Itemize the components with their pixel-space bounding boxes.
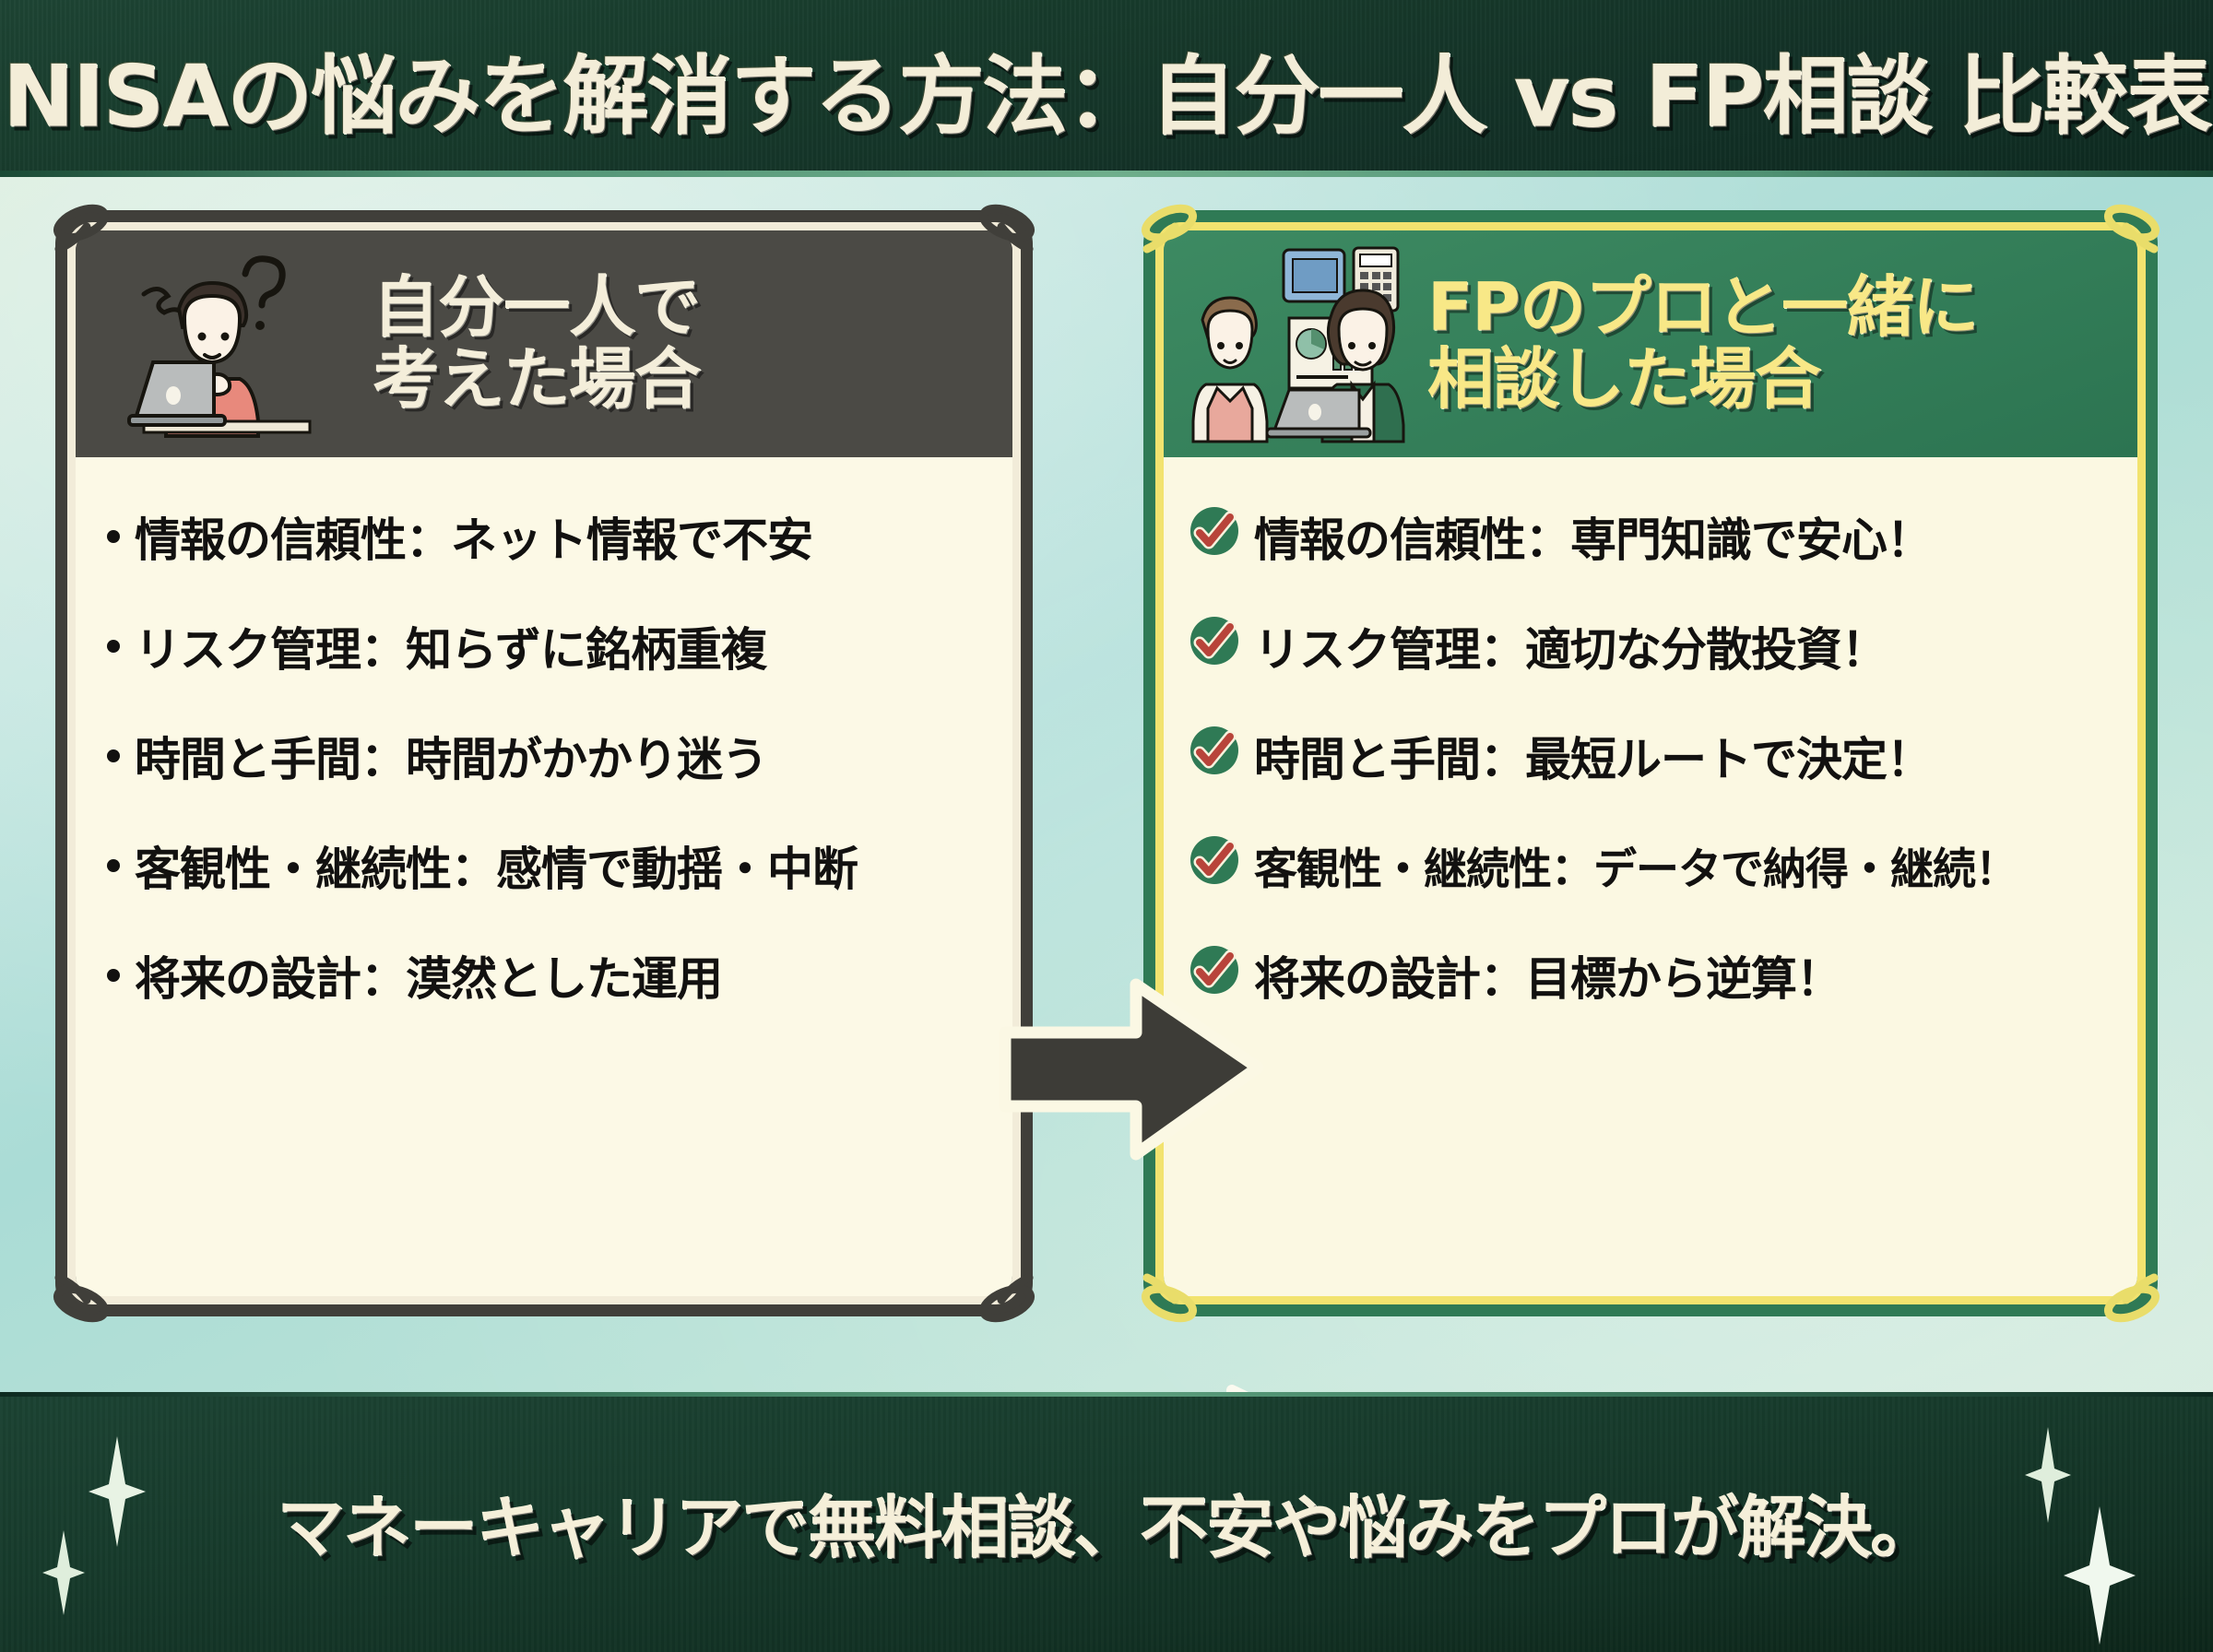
header-band: NISAの悩みを解消する方法：自分一人 vs FP相談 比較表 xyxy=(0,0,2213,177)
list-item: 将来の設計：目標から逆算！ xyxy=(1164,920,2137,1030)
list-item-label: 情報の信頼性：専門知識で安心！ xyxy=(1254,503,1932,570)
left-panel-frame: 自分一人で 考えた場合 情報の信頼性：ネット情報で不安 リスク管理：知らずに銘柄… xyxy=(55,210,1033,1316)
list-item: 時間と手間：最短ルートで決定！ xyxy=(1164,701,2137,810)
list-item: 客観性・継続性：データで納得・継続！ xyxy=(1164,810,2137,920)
bullet-dot-icon xyxy=(107,749,120,762)
list-item: 情報の信頼性：専門知識で安心！ xyxy=(1164,481,2137,591)
leaf-flourish-icon xyxy=(948,1250,1047,1335)
main-comparison-area: 自分一人で 考えた場合 情報の信頼性：ネット情報で不安 リスク管理：知らずに銘柄… xyxy=(0,177,2213,1392)
list-item-label: 客観性・継続性：データで納得・継続！ xyxy=(1254,833,2018,897)
list-item-label: 時間と手間：最短ルートで決定！ xyxy=(1254,723,1932,789)
left-panel-body: 情報の信頼性：ネット情報で不安 リスク管理：知らずに銘柄重複 時間と手間：時間が… xyxy=(76,457,1012,1296)
right-arrow-icon xyxy=(992,972,1269,1167)
left-panel-header: 自分一人で 考えた場合 xyxy=(76,230,1012,457)
bullet-dot-icon xyxy=(107,530,120,543)
bullet-dot-icon xyxy=(107,969,120,982)
right-panel-body: 情報の信頼性：専門知識で安心！ リスク xyxy=(1164,457,2137,1296)
left-panel-heading: 自分一人で 考えた場合 xyxy=(373,272,700,416)
leaf-flourish-icon xyxy=(2073,192,2172,277)
leaf-flourish-icon xyxy=(41,192,140,277)
panel-self-study: 自分一人で 考えた場合 情報の信頼性：ネット情報で不安 リスク管理：知らずに銘柄… xyxy=(55,210,1033,1316)
list-item-label: 情報の信頼性：ネット情報で不安 xyxy=(135,503,812,570)
list-item-label: リスク管理：適切な分散投資！ xyxy=(1254,613,1887,679)
left-item-list: 情報の信頼性：ネット情報で不安 リスク管理：知らずに銘柄重複 時間と手間：時間が… xyxy=(76,481,1012,1030)
green-check-circle-icon xyxy=(1188,504,1241,569)
green-check-circle-icon xyxy=(1188,724,1241,788)
right-item-list: 情報の信頼性：専門知識で安心！ リスク xyxy=(1164,481,2137,1030)
person-thinking-laptop-icon xyxy=(107,241,356,447)
panel-fp-consultation: FPのプロと一緒に 相談した場合 xyxy=(1143,210,2158,1316)
bullet-dot-icon xyxy=(107,859,120,872)
list-item-label: リスク管理：知らずに銘柄重複 xyxy=(135,613,766,679)
list-item-label: 将来の設計：目標から逆算！ xyxy=(1254,942,1841,1009)
list-item: 客観性・継続性：感情で動揺・中断 xyxy=(76,810,1012,920)
list-item-label: 客観性・継続性：感情で動揺・中断 xyxy=(135,832,858,899)
list-item: リスク管理：適切な分散投資！ xyxy=(1164,591,2137,701)
leaf-flourish-icon xyxy=(948,192,1047,277)
long-right-arrow-icon xyxy=(231,1385,1429,1392)
list-item: 時間と手間：時間がかかり迷う xyxy=(76,701,1012,810)
green-check-circle-icon xyxy=(1188,833,1241,898)
infographic-root: NISAの悩みを解消する方法：自分一人 vs FP相談 比較表 xyxy=(0,0,2213,1652)
bullet-dot-icon xyxy=(107,640,120,653)
right-panel-header: FPのプロと一緒に 相談した場合 xyxy=(1164,230,2137,457)
leaf-flourish-icon xyxy=(1129,192,1228,277)
list-item: 情報の信頼性：ネット情報で不安 xyxy=(76,481,1012,591)
leaf-flourish-icon xyxy=(1129,1250,1228,1335)
list-item-label: 時間と手間：時間がかかり迷う xyxy=(135,723,767,789)
list-item: リスク管理：知らずに銘柄重複 xyxy=(76,591,1012,701)
right-panel-heading: FPのプロと一緒に 相談した場合 xyxy=(1427,272,1978,416)
page-title: NISAの悩みを解消する方法：自分一人 vs FP相談 比較表 xyxy=(0,27,2213,151)
leaf-flourish-icon xyxy=(2073,1250,2172,1335)
list-item: 将来の設計：漠然とした運用 xyxy=(76,920,1012,1030)
list-item-label: 将来の設計：漠然とした運用 xyxy=(135,942,722,1009)
footer-text: マネーキャリアで無料相談、不安や悩みをプロが解決。 xyxy=(0,1473,2213,1572)
footer-band: マネーキャリアで無料相談、不安や悩みをプロが解決。 xyxy=(0,1392,2213,1652)
green-check-circle-icon xyxy=(1188,614,1241,678)
leaf-flourish-icon xyxy=(41,1250,140,1335)
right-panel-frame: FPのプロと一緒に 相談した場合 xyxy=(1143,210,2158,1316)
